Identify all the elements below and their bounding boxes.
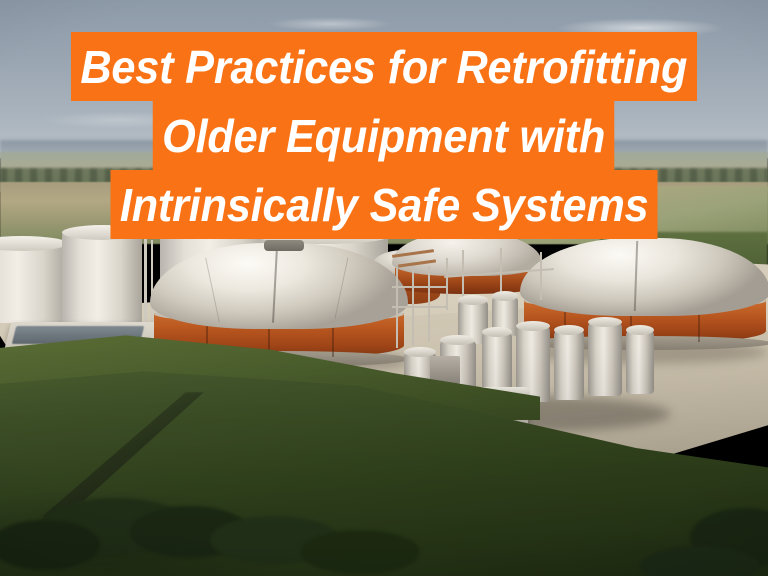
digester-dome-left — [150, 243, 408, 355]
dome-hatch — [264, 240, 304, 251]
pipe-rack-column — [428, 266, 430, 342]
title-line-2: Older Equipment with — [153, 101, 615, 170]
storage-tank — [62, 232, 142, 324]
storage-tank — [0, 243, 68, 323]
page-title: Best Practices for Retrofitting Older Eq… — [0, 32, 768, 239]
tank-body — [62, 232, 142, 324]
process-vessel — [588, 322, 622, 396]
pipe-rack-column — [396, 268, 398, 348]
pipe-rack-beam — [392, 306, 446, 308]
pipe-rack-column — [540, 252, 542, 300]
shrub — [300, 530, 420, 574]
digester-dome — [150, 243, 408, 329]
pipe-rack-beam — [392, 286, 446, 288]
pipe-rack-column — [412, 262, 414, 346]
digester-dome — [520, 238, 768, 316]
tank-body — [0, 243, 68, 323]
process-vessel — [626, 330, 654, 394]
pipe-rack-column — [446, 258, 448, 310]
process-vessel — [554, 330, 584, 400]
title-line-1: Best Practices for Retrofitting — [71, 32, 697, 101]
title-line-3: Intrinsically Safe Systems — [110, 170, 657, 239]
header-banner: Best Practices for Retrofitting Older Eq… — [0, 0, 768, 576]
